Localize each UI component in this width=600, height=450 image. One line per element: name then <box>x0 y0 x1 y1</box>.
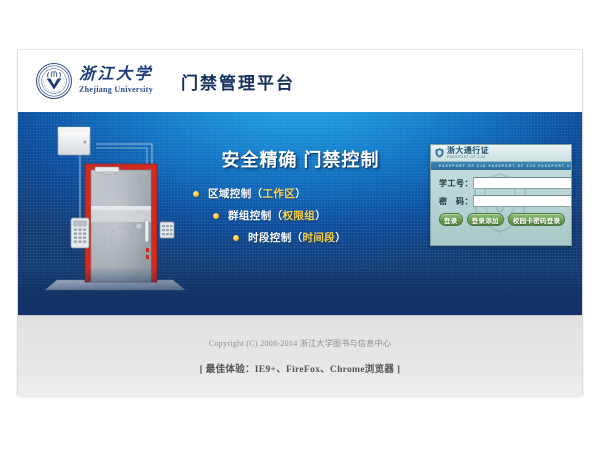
browser-support-note: [ 最佳体验：IE9+、FireFox、Chrome浏览器 ] <box>200 361 401 375</box>
logo-english-name: Zhejiang University <box>79 85 153 95</box>
feature-list: 区域控制（工作区） 群组控制（权限组） 时段控制（时间段） <box>193 186 408 245</box>
list-item: 区域控制（工作区） <box>193 186 408 201</box>
site-header: 浙江大学 Zhejiang University 门禁管理平台 <box>18 50 582 113</box>
list-item: 时段控制（时间段） <box>233 230 408 245</box>
password-field[interactable] <box>473 195 572 207</box>
banner-copy: 安全精确 门禁控制 区域控制（工作区） 群组控制（权限组） 时段控制（时间段） <box>193 146 408 252</box>
feature-text: 区域控制（ <box>208 186 263 201</box>
feature-tail: ） <box>335 230 346 245</box>
application-card: 浙江大学 Zhejiang University 门禁管理平台 <box>18 50 582 395</box>
access-control-door-illustration <box>40 122 190 307</box>
hero-banner: 安全精确 门禁控制 区域控制（工作区） 群组控制（权限组） 时段控制（时间段） <box>18 112 582 315</box>
university-logo[interactable]: 浙江大学 Zhejiang University <box>36 63 153 99</box>
login-button-row: 登录 登录添加 校园卡密码登录 <box>439 213 563 226</box>
feature-highlight: 权限组 <box>283 208 316 223</box>
feature-highlight: 工作区 <box>263 186 296 201</box>
logo-wordmark: 浙江大学 Zhejiang University <box>79 67 153 95</box>
copyright-text: Copyright (C) 2008-2014 浙江大学图书与信息中心 <box>209 338 391 349</box>
login-panel-ribbon: PASSPORT OF ZJU PASSPORT OF ZJU PASSPORT… <box>431 162 571 170</box>
list-item: 群组控制（权限组） <box>213 208 408 223</box>
field-row-userid: 学工号： <box>439 177 563 189</box>
login-add-button[interactable]: 登录添加 <box>467 213 504 226</box>
login-button[interactable]: 登录 <box>439 213 463 226</box>
login-panel-title: 浙大通行证 <box>447 147 489 155</box>
password-label: 密 码： <box>439 196 473 207</box>
login-panel-titlebar: 浙大通行证 PASSPORT OF ZJU <box>431 145 571 162</box>
student-staff-id-field[interactable] <box>473 177 572 189</box>
login-panel-title-stack: 浙大通行证 PASSPORT OF ZJU <box>447 147 489 159</box>
field-row-password: 密 码： <box>439 195 563 207</box>
site-footer: Copyright (C) 2008-2014 浙江大学图书与信息中心 [ 最佳… <box>18 315 582 396</box>
page-root: 浙江大学 Zhejiang University 门禁管理平台 <box>0 0 600 450</box>
feature-tail: ） <box>315 208 326 223</box>
student-staff-id-label: 学工号： <box>439 178 473 189</box>
ribbon-text: PASSPORT OF ZJU PASSPORT OF ZJU PASSPORT… <box>431 164 571 168</box>
bullet-dot-icon <box>233 235 239 241</box>
login-panel: 浙大通行证 PASSPORT OF ZJU PASSPORT OF ZJU PA… <box>430 144 572 246</box>
campus-card-login-button[interactable]: 校园卡密码登录 <box>508 213 566 226</box>
bullet-dot-icon <box>193 191 199 197</box>
feature-highlight: 时间段 <box>303 230 336 245</box>
login-panel-body: 学工号： 密 码： 登录 登录添加 校园卡密码登录 <box>431 170 571 226</box>
feature-text: 时段控制（ <box>248 230 303 245</box>
feature-tail: ） <box>295 186 306 201</box>
bullet-dot-icon <box>213 213 219 219</box>
login-panel-subtitle: PASSPORT OF ZJU <box>447 156 489 159</box>
feature-text: 群组控制（ <box>228 208 283 223</box>
banner-headline: 安全精确 门禁控制 <box>193 146 408 172</box>
shield-icon <box>435 148 444 158</box>
logo-chinese-name: 浙江大学 <box>79 67 153 84</box>
zju-seal-icon <box>36 63 72 99</box>
page-title: 门禁管理平台 <box>181 69 295 94</box>
